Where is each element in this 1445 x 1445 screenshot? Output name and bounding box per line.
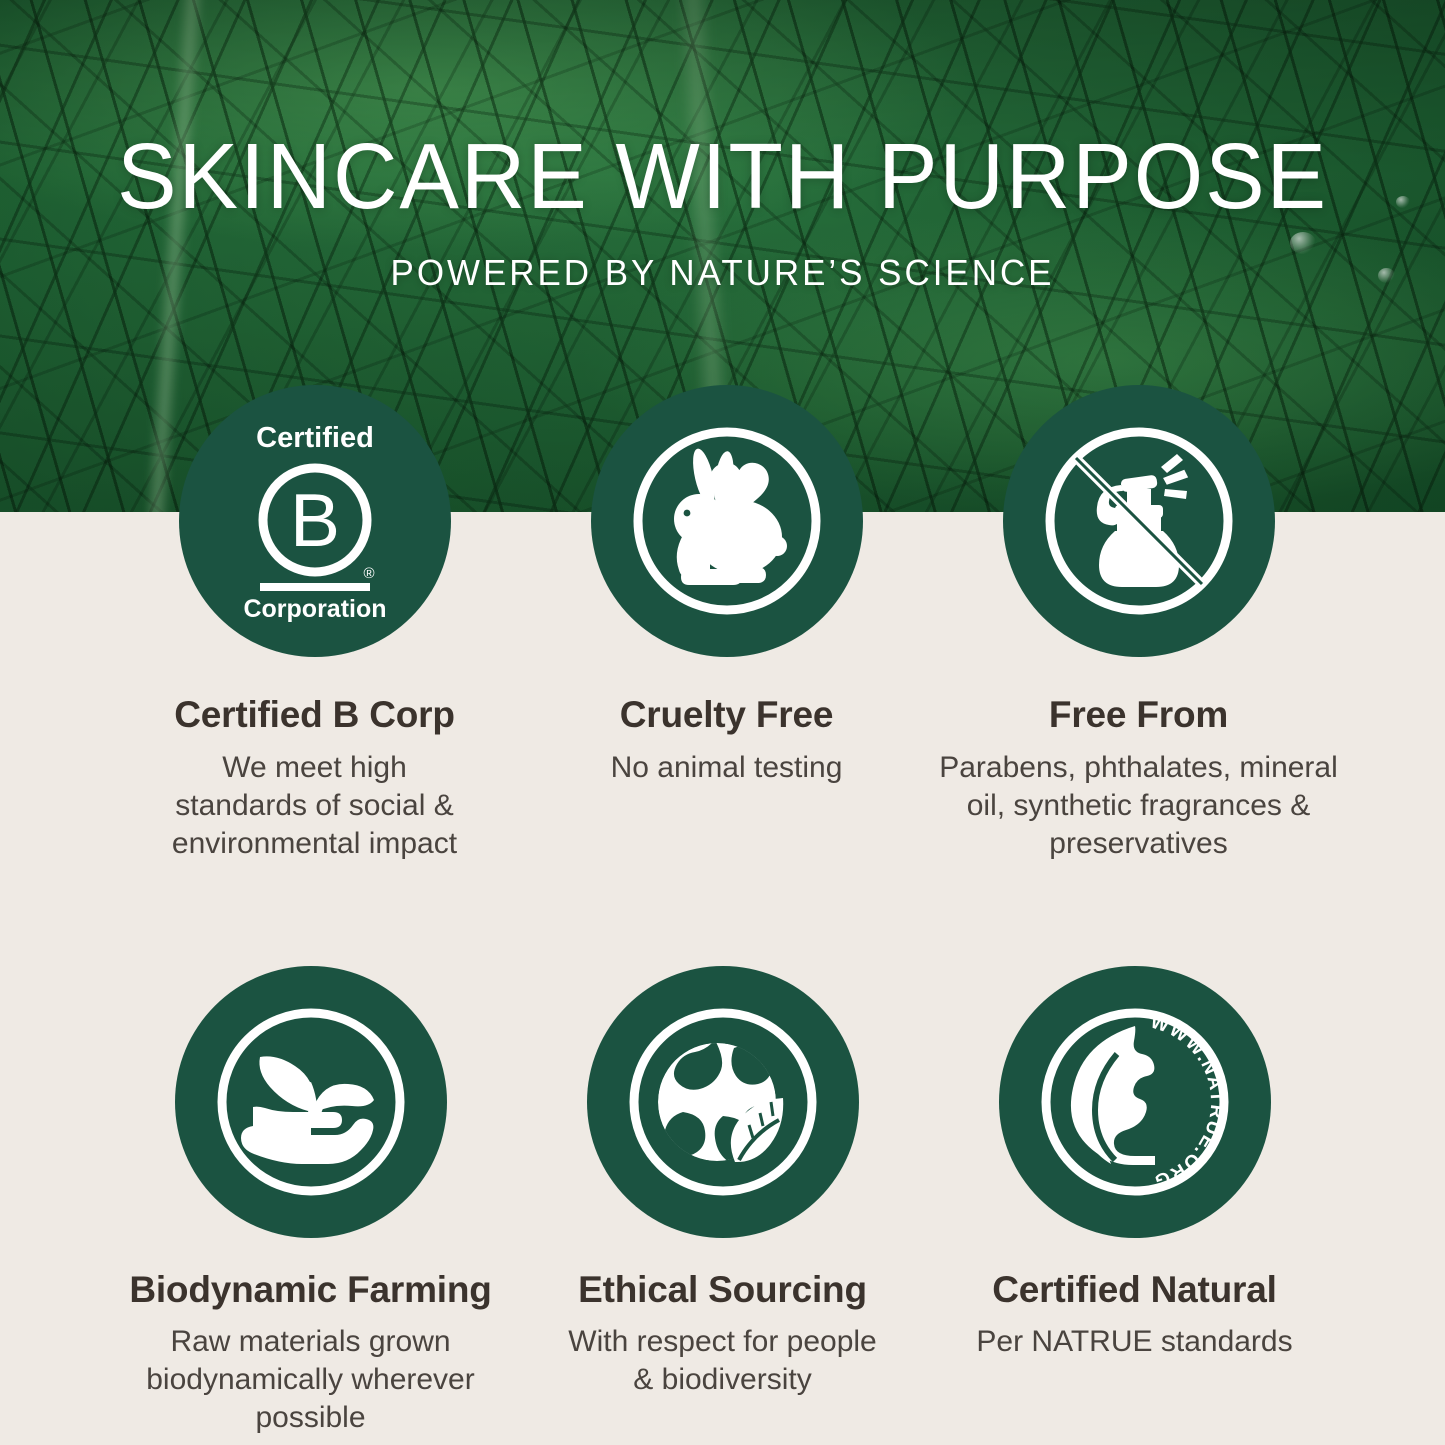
badge-description: Parabens, phthalates, mineral oil, synth…	[934, 749, 1344, 864]
badge-title: Biodynamic Farming	[129, 1270, 491, 1311]
badge-title: Cruelty Free	[620, 695, 834, 736]
badge-description: No animal testing	[611, 749, 843, 787]
badge-row-1: Certified B ® Corporation Certified B Co…	[0, 385, 1445, 864]
badge-description: Raw materials grown biodynamically where…	[141, 1323, 481, 1438]
globe-leaf-icon	[587, 966, 859, 1238]
infographic-page: SKINCARE WITH PURPOSE POWERED BY NATURE’…	[0, 0, 1445, 1445]
badge-card-biodynamic-farming: Biodynamic Farming Raw materials grown b…	[105, 966, 517, 1438]
badge-title: Ethical Sourcing	[578, 1270, 867, 1311]
rabbit-heart-icon	[591, 385, 863, 657]
badge-card-certified-natural: WWW.NATRUE.ORG Certified Natural Per NAT…	[929, 966, 1341, 1361]
hand-sprout-icon	[175, 966, 447, 1238]
page-title: SKINCARE WITH PURPOSE	[29, 130, 1416, 223]
badge-row-2: Biodynamic Farming Raw materials grown b…	[0, 966, 1445, 1438]
badge-card-free-from: Free From Parabens, phthalates, mineral …	[933, 385, 1345, 864]
natrue-ring-label: WWW.NATRUE.ORG	[1147, 1011, 1226, 1191]
badge-title: Certified B Corp	[174, 695, 454, 736]
natrue-logo-icon: WWW.NATRUE.ORG	[999, 966, 1271, 1238]
b-corp-top-label: Certified	[256, 422, 374, 454]
badge-card-cruelty-free: Cruelty Free No animal testing	[521, 385, 933, 787]
no-spray-bottle-icon	[1003, 385, 1275, 657]
badge-title: Free From	[1049, 695, 1228, 736]
b-corp-bottom-label: Corporation	[243, 595, 386, 623]
badge-description: We meet high standards of social & envir…	[160, 749, 470, 864]
page-subtitle: POWERED BY NATURE’S SCIENCE	[22, 252, 1424, 294]
badge-card-ethical-sourcing: Ethical Sourcing With respect for people…	[517, 966, 929, 1399]
badge-description: Per NATRUE standards	[976, 1323, 1292, 1361]
badge-grid: Certified B ® Corporation Certified B Co…	[0, 385, 1445, 1438]
badge-description: With respect for people & biodiversity	[558, 1323, 888, 1400]
b-corp-logo-icon: Certified B ® Corporation	[179, 385, 451, 657]
badge-title: Certified Natural	[992, 1270, 1276, 1311]
hero-text-block: SKINCARE WITH PURPOSE POWERED BY NATURE’…	[0, 0, 1445, 294]
svg-text:®: ®	[363, 565, 374, 582]
b-corp-letter: B	[289, 478, 339, 562]
badge-card-certified-b-corp: Certified B ® Corporation Certified B Co…	[109, 385, 521, 864]
